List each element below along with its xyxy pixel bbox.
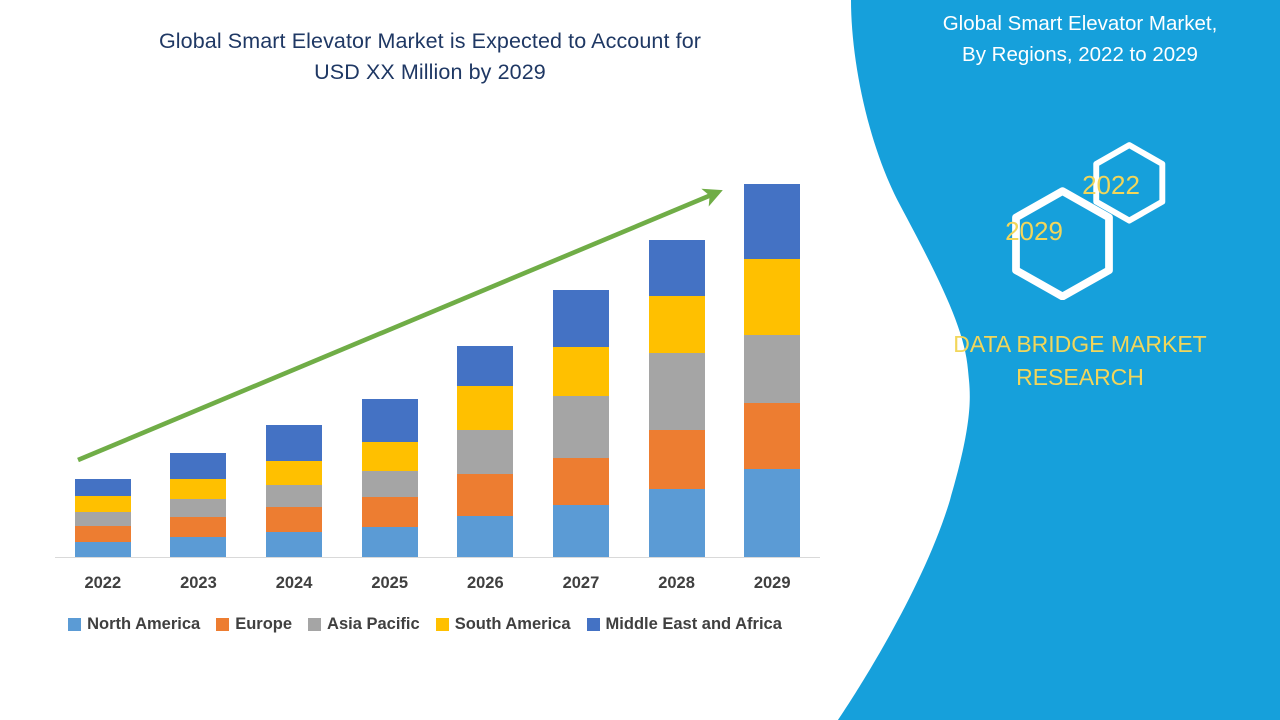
- bar-segment[interactable]: [649, 296, 705, 353]
- legend-swatch-icon: [436, 618, 449, 631]
- legend-item[interactable]: North America: [68, 615, 200, 634]
- hexagon-logo: 2029 2022: [964, 140, 1214, 300]
- bar-group-2027[interactable]: [553, 120, 609, 558]
- bar-segment[interactable]: [457, 386, 513, 430]
- x-axis-label-2027: 2027: [541, 574, 621, 593]
- bar-segment[interactable]: [266, 532, 322, 558]
- bar-segment[interactable]: [553, 347, 609, 396]
- x-axis-label-2023: 2023: [158, 574, 238, 593]
- hexagon-2029-label: 2029: [1005, 216, 1063, 246]
- bar-segment[interactable]: [744, 469, 800, 558]
- bar-segment[interactable]: [75, 479, 131, 496]
- legend-label: Asia Pacific: [327, 615, 420, 634]
- bar-segment[interactable]: [362, 497, 418, 527]
- legend-label: Middle East and Africa: [606, 615, 782, 634]
- x-axis-label-2026: 2026: [445, 574, 525, 593]
- legend-item[interactable]: Middle East and Africa: [587, 615, 782, 634]
- bar-segment[interactable]: [649, 489, 705, 558]
- bar-segment[interactable]: [362, 399, 418, 442]
- legend-swatch-icon: [216, 618, 229, 631]
- bar-segment[interactable]: [649, 240, 705, 296]
- bar-segment[interactable]: [170, 479, 226, 499]
- legend-item[interactable]: Europe: [216, 615, 292, 634]
- bar-segment[interactable]: [75, 542, 131, 558]
- bar-segment[interactable]: [744, 184, 800, 259]
- chart-title-line-2: USD XX Million by 2029: [40, 57, 820, 88]
- hexagon-2022-label: 2022: [1082, 170, 1140, 200]
- bar-group-2028[interactable]: [649, 120, 705, 558]
- bar-stack: [362, 399, 418, 558]
- bar-segment[interactable]: [553, 505, 609, 558]
- brand-heading-line-1: Global Smart Elevator Market,: [880, 8, 1280, 39]
- brand-name: DATA BRIDGE MARKET RESEARCH: [880, 328, 1280, 394]
- bar-segment[interactable]: [75, 526, 131, 542]
- bar-stack: [744, 184, 800, 558]
- bar-segment[interactable]: [170, 537, 226, 558]
- bar-segment[interactable]: [266, 485, 322, 507]
- bar-segment[interactable]: [457, 430, 513, 474]
- bar-group-2023[interactable]: [170, 120, 226, 558]
- bar-segment[interactable]: [649, 430, 705, 489]
- bar-segment[interactable]: [362, 471, 418, 497]
- bar-segment[interactable]: [553, 290, 609, 347]
- infographic-slide: Global Smart Elevator Market is Expected…: [0, 0, 1280, 720]
- bar-group-2022[interactable]: [75, 120, 131, 558]
- bar-segment[interactable]: [649, 353, 705, 430]
- chart-title-line-1: Global Smart Elevator Market is Expected…: [40, 26, 820, 57]
- brand-content: Global Smart Elevator Market, By Regions…: [880, 0, 1280, 720]
- bar-segment[interactable]: [553, 396, 609, 458]
- x-axis-label-2029: 2029: [732, 574, 812, 593]
- brand-name-line-2: RESEARCH: [880, 361, 1280, 394]
- legend-item[interactable]: South America: [436, 615, 571, 634]
- brand-name-line-1: DATA BRIDGE MARKET: [880, 328, 1280, 361]
- bar-stack: [170, 453, 226, 558]
- bar-segment[interactable]: [457, 516, 513, 558]
- bar-segment[interactable]: [266, 507, 322, 532]
- x-axis-line: [55, 557, 820, 558]
- bar-group-2029[interactable]: [744, 120, 800, 558]
- bar-group-2026[interactable]: [457, 120, 513, 558]
- bar-stack: [75, 479, 131, 558]
- x-axis-label-2024: 2024: [254, 574, 334, 593]
- legend-swatch-icon: [587, 618, 600, 631]
- stacked-bar-plot: [55, 120, 820, 558]
- chart-legend: North AmericaEuropeAsia PacificSouth Ame…: [0, 615, 850, 634]
- x-axis-label-2025: 2025: [350, 574, 430, 593]
- legend-label: South America: [455, 615, 571, 634]
- brand-heading: Global Smart Elevator Market, By Regions…: [880, 8, 1280, 70]
- bar-segment[interactable]: [266, 425, 322, 461]
- bar-group-2025[interactable]: [362, 120, 418, 558]
- chart-title: Global Smart Elevator Market is Expected…: [40, 26, 820, 88]
- bar-stack: [457, 346, 513, 558]
- brand-heading-line-2: By Regions, 2022 to 2029: [880, 39, 1280, 70]
- bar-segment[interactable]: [744, 335, 800, 403]
- legend-label: North America: [87, 615, 200, 634]
- legend-swatch-icon: [308, 618, 321, 631]
- bar-stack: [266, 425, 322, 558]
- x-axis-label-2022: 2022: [63, 574, 143, 593]
- bar-segment[interactable]: [457, 346, 513, 386]
- bar-segment[interactable]: [744, 403, 800, 469]
- bar-segment[interactable]: [266, 461, 322, 485]
- bar-segment[interactable]: [75, 496, 131, 512]
- bar-segment[interactable]: [170, 499, 226, 517]
- bar-stack: [553, 290, 609, 558]
- bar-segment[interactable]: [457, 474, 513, 516]
- bar-segment[interactable]: [362, 527, 418, 558]
- bar-segment[interactable]: [170, 517, 226, 537]
- legend-swatch-icon: [68, 618, 81, 631]
- bar-segment[interactable]: [170, 453, 226, 479]
- x-axis-label-2028: 2028: [637, 574, 717, 593]
- chart-panel: Global Smart Elevator Market is Expected…: [0, 0, 850, 720]
- legend-item[interactable]: Asia Pacific: [308, 615, 420, 634]
- bar-segment[interactable]: [75, 512, 131, 526]
- legend-label: Europe: [235, 615, 292, 634]
- bar-segment[interactable]: [744, 259, 800, 335]
- bar-group-2024[interactable]: [266, 120, 322, 558]
- bar-segment[interactable]: [362, 442, 418, 471]
- bar-stack: [649, 240, 705, 558]
- bar-segment[interactable]: [553, 458, 609, 505]
